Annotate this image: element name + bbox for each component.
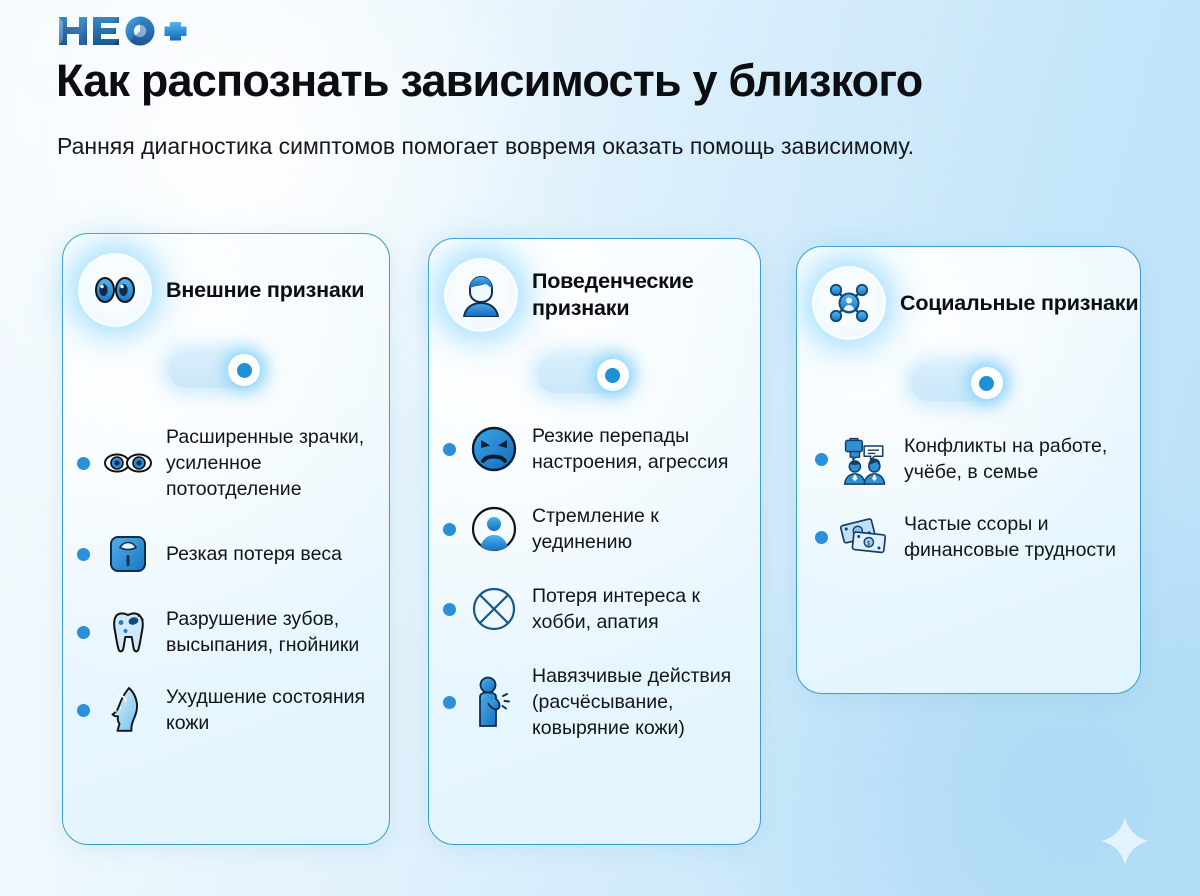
toggle-knob[interactable] — [228, 354, 260, 386]
bullet-dot — [77, 704, 90, 717]
list-item-text: Стремление к уединению — [532, 503, 744, 555]
banknotes-icon: $ — [840, 511, 892, 563]
list-item-text: Конфликты на работе, учёбе, в семье — [904, 433, 1124, 485]
list-item-text: Ухудшение состояния кожи — [166, 684, 373, 736]
crossed-circle-icon — [468, 583, 520, 635]
list-item: Резкие перепады настроения, агрессия — [443, 423, 744, 475]
card-behavioral-signs: Поведенческие признаки — [428, 238, 761, 845]
bullet-dot — [443, 696, 456, 709]
weight-scale-icon — [102, 528, 154, 580]
decayed-tooth-icon — [102, 606, 154, 658]
angry-face-icon — [468, 423, 520, 475]
bullet-dot — [815, 453, 828, 466]
list-item-text: Резкие перепады настроения, агрессия — [532, 423, 744, 475]
card-header: Поведенческие признаки — [429, 239, 760, 329]
social-network-icon — [815, 269, 883, 337]
toggle-knob[interactable] — [597, 359, 629, 391]
bullet-dot — [443, 603, 456, 616]
bullet-dot — [77, 457, 90, 470]
card-header: Внешние признаки — [63, 234, 389, 324]
card-list: Расширенные зрачки, усиленное потоотделе… — [63, 388, 389, 736]
list-item-text: Разрушение зубов, высыпания, гнойники — [166, 606, 373, 658]
dilated-pupils-icon — [102, 437, 154, 489]
list-item-text: Расширенные зрачки, усиленное потоотделе… — [166, 424, 373, 502]
page-title: Как распознать зависимость у близкого — [56, 55, 922, 107]
user-circle-icon — [468, 503, 520, 555]
list-item-text: Навязчивые действия (расчёсывание, ковыр… — [532, 663, 744, 741]
card-header: Социальные признаки — [797, 247, 1140, 337]
toggle-switch-social[interactable] — [911, 365, 1005, 401]
toggle-row — [797, 337, 1140, 401]
card-list: Резкие перепады настроения, агрессия Стр… — [429, 393, 760, 741]
list-item-text: Частые ссоры и финансовые трудности — [904, 511, 1124, 563]
list-item-text: Резкая потеря веса — [166, 541, 342, 567]
neo-plus-logo-icon — [57, 14, 193, 48]
list-item: $ Частые ссоры и финансовые трудности — [815, 511, 1124, 563]
bullet-dot — [77, 548, 90, 561]
list-item-text: Потеря интереса к хобби, апатия — [532, 583, 744, 635]
card-social-signs: Социальные признаки — [796, 246, 1141, 694]
list-item: Конфликты на работе, учёбе, в семье — [815, 433, 1124, 485]
toggle-switch-behavioral[interactable] — [537, 357, 631, 393]
card-list: Конфликты на работе, учёбе, в семье — [797, 401, 1140, 563]
list-item: Разрушение зубов, высыпания, гнойники — [77, 606, 373, 658]
bullet-dot — [815, 531, 828, 544]
bullet-dot — [443, 443, 456, 456]
card-title: Социальные признаки — [900, 290, 1138, 317]
work-conflict-icon — [840, 433, 892, 485]
toggle-switch-external[interactable] — [168, 352, 262, 388]
card-title: Поведенческие признаки — [532, 268, 760, 322]
toggle-row — [429, 329, 760, 393]
list-item: Расширенные зрачки, усиленное потоотделе… — [77, 424, 373, 502]
toggle-knob[interactable] — [971, 367, 1003, 399]
face-profile-skin-icon — [102, 684, 154, 736]
toggle-row — [63, 324, 389, 388]
scratching-person-icon — [468, 676, 520, 728]
list-item: Потеря интереса к хобби, апатия — [443, 583, 744, 635]
four-point-star-icon — [1098, 814, 1152, 868]
card-external-signs: Внешние признаки — [62, 233, 390, 845]
brand-logo — [57, 14, 193, 48]
list-item: Резкая потеря веса — [77, 528, 373, 580]
list-item: Ухудшение состояния кожи — [77, 684, 373, 736]
eyes-icon — [81, 256, 149, 324]
bullet-dot — [443, 523, 456, 536]
page-subtitle: Ранняя диагностика симптомов помогает во… — [57, 128, 987, 164]
person-avatar-icon — [447, 261, 515, 329]
list-item: Стремление к уединению — [443, 503, 744, 555]
list-item: Навязчивые действия (расчёсывание, ковыр… — [443, 663, 744, 741]
card-title: Внешние признаки — [166, 277, 364, 304]
bullet-dot — [77, 626, 90, 639]
